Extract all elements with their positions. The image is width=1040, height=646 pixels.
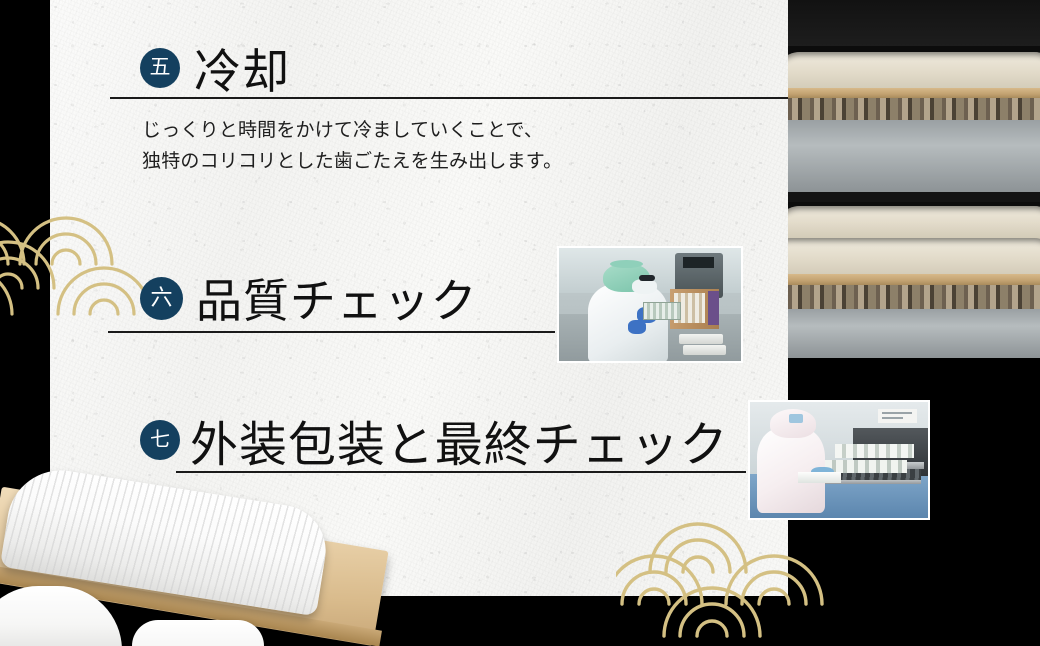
step-number-badge-6: 六 [140,277,183,320]
step-6-heading: 六 品質チェック [140,265,478,331]
step-title-5: 冷却 [194,33,290,102]
kamaboko-piece-center [132,620,264,646]
step-section-6: 六 品質チェック [140,265,478,331]
step-section-5: 五 冷却 [140,33,290,102]
step-title-6: 品質チェック [196,265,478,331]
step-5-body-line-2: 独特のコリコリとした歯ごたえを生み出します。 [142,147,562,178]
step-5-body-text: じっくりと時間をかけて冷ましていくことで、 独特のコリコリとした歯ごたえを生み出… [142,116,562,178]
step-number-badge-5: 五 [140,48,180,88]
step-5-heading: 五 冷却 [140,33,290,102]
slide-canvas: 五 冷却 じっくりと時間をかけて冷ましていくことで、 独特のコリコリとした歯ごた… [0,0,1040,646]
photo-final-packing [748,400,930,520]
photo-quality-check [557,246,743,363]
photo-cooling-conveyor [788,0,1040,358]
step-6-divider-rule [108,331,555,333]
step-5-divider-rule [110,97,790,99]
step-5-body-line-1: じっくりと時間をかけて冷ましていくことで、 [142,116,562,147]
hero-kamaboko-on-board [0,440,390,646]
